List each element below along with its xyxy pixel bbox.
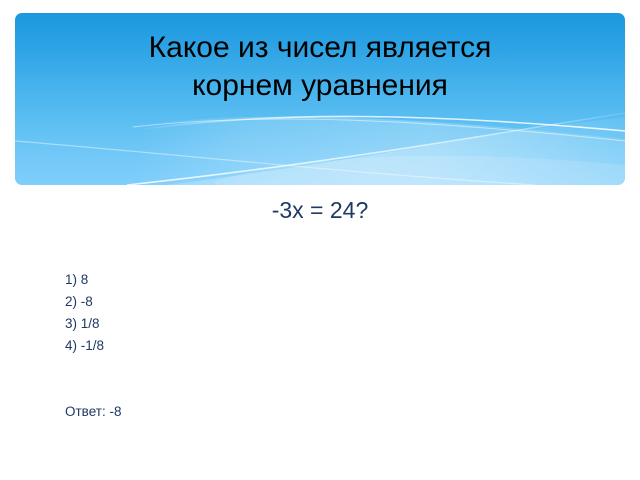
- list-item: 4) -1/8: [65, 335, 565, 357]
- slide-canvas: Какое из чисел является корнем уравнения…: [0, 0, 640, 480]
- list-item: 1) 8: [65, 269, 565, 291]
- equation-text: -3x = 24?: [0, 196, 640, 224]
- slide-title: Какое из чисел является корнем уравнения: [15, 29, 625, 105]
- title-banner: Какое из чисел является корнем уравнения: [15, 13, 625, 185]
- list-item: 3) 1/8: [65, 313, 565, 335]
- answer-text: Ответ: -8: [65, 401, 121, 423]
- options-list: 1) 8 2) -8 3) 1/8 4) -1/8: [65, 269, 565, 357]
- list-item: 2) -8: [65, 291, 565, 313]
